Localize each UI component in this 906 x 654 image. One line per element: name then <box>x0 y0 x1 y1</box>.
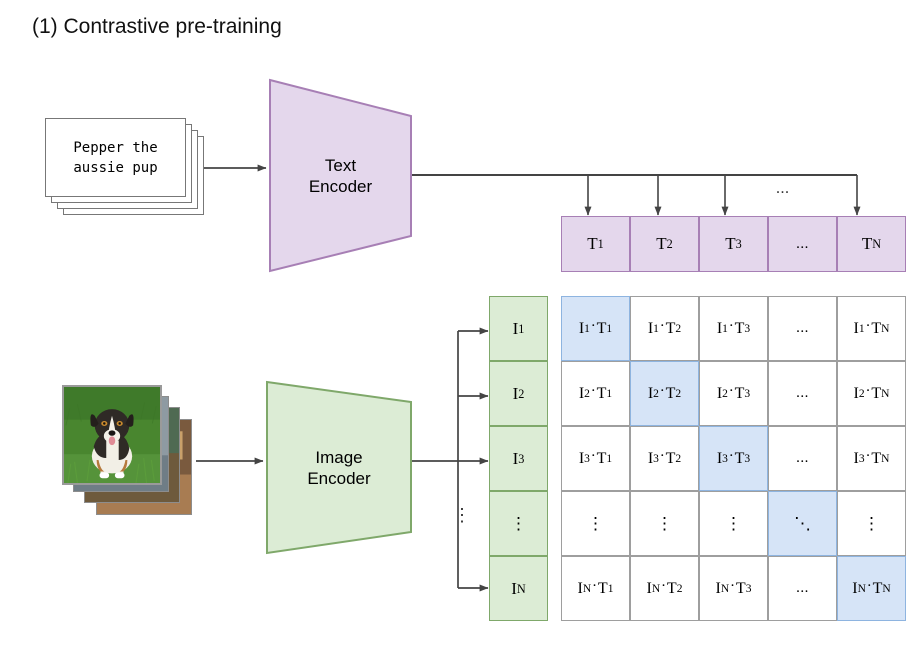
text-embedding-cell-1: T1 <box>561 216 630 272</box>
text-embedding-cell-5: TN <box>837 216 906 272</box>
matrix-cell-r4-c1: ⋮ <box>561 491 630 556</box>
matrix-cell-r5-c5: IN·TN <box>837 556 906 621</box>
image-embedding-cell-1: I1 <box>489 296 548 361</box>
text-embedding-cell-2: T2 <box>630 216 699 272</box>
page-title: (1) Contrastive pre-training <box>32 14 282 40</box>
matrix-cell-r2-c3: I2·T3 <box>699 361 768 426</box>
image-embedding-cell-4: ⋮ <box>489 491 548 556</box>
matrix-cell-r5-c3: IN·T3 <box>699 556 768 621</box>
image-input-stack <box>62 385 222 515</box>
matrix-cell-r1-c3: I1·T3 <box>699 296 768 361</box>
matrix-cell-r1-c5: I1·TN <box>837 296 906 361</box>
image-branch-vertical-dots: ⋮ <box>453 505 471 526</box>
image-embedding-cell-2: I2 <box>489 361 548 426</box>
text-input-caption: Pepper the aussie pup <box>73 138 157 178</box>
text-embedding-cell-3: T3 <box>699 216 768 272</box>
matrix-cell-r5-c1: IN·T1 <box>561 556 630 621</box>
matrix-cell-r3-c3: I3·T3 <box>699 426 768 491</box>
image-encoder-shape <box>265 380 413 555</box>
matrix-cell-r5-c2: IN·T2 <box>630 556 699 621</box>
matrix-cell-r5-c4: ... <box>768 556 837 621</box>
text-card-front: Pepper the aussie pup <box>45 118 186 197</box>
text-embedding-cell-4: ... <box>768 216 837 272</box>
matrix-cell-r4-c5: ⋮ <box>837 491 906 556</box>
text-encoder-shape <box>268 78 413 273</box>
matrix-cell-r1-c4: ... <box>768 296 837 361</box>
text-input-stack: Pepper the aussie pup <box>45 118 245 228</box>
matrix-cell-r3-c1: I3·T1 <box>561 426 630 491</box>
image-embedding-cell-5: IN <box>489 556 548 621</box>
image-encoder-block: Image Encoder <box>265 380 413 555</box>
matrix-cell-r3-c5: I3·TN <box>837 426 906 491</box>
matrix-cell-r3-c4: ... <box>768 426 837 491</box>
figure-canvas: (1) Contrastive pre-training <box>0 0 906 654</box>
text-embedding-row-ellipsis: ... <box>776 180 790 198</box>
matrix-cell-r4-c4: ⋱ <box>768 491 837 556</box>
image-card-front-puppy <box>62 385 162 485</box>
matrix-cell-r1-c1: I1·T1 <box>561 296 630 361</box>
text-encoder-block: Text Encoder <box>268 78 413 273</box>
matrix-cell-r2-c5: I2·TN <box>837 361 906 426</box>
matrix-cell-r2-c2: I2·T2 <box>630 361 699 426</box>
matrix-cell-r3-c2: I3·T2 <box>630 426 699 491</box>
matrix-cell-r4-c2: ⋮ <box>630 491 699 556</box>
matrix-cell-r2-c1: I2·T1 <box>561 361 630 426</box>
matrix-cell-r1-c2: I1·T2 <box>630 296 699 361</box>
matrix-cell-r2-c4: ... <box>768 361 837 426</box>
matrix-cell-r4-c3: ⋮ <box>699 491 768 556</box>
image-embedding-cell-3: I3 <box>489 426 548 491</box>
